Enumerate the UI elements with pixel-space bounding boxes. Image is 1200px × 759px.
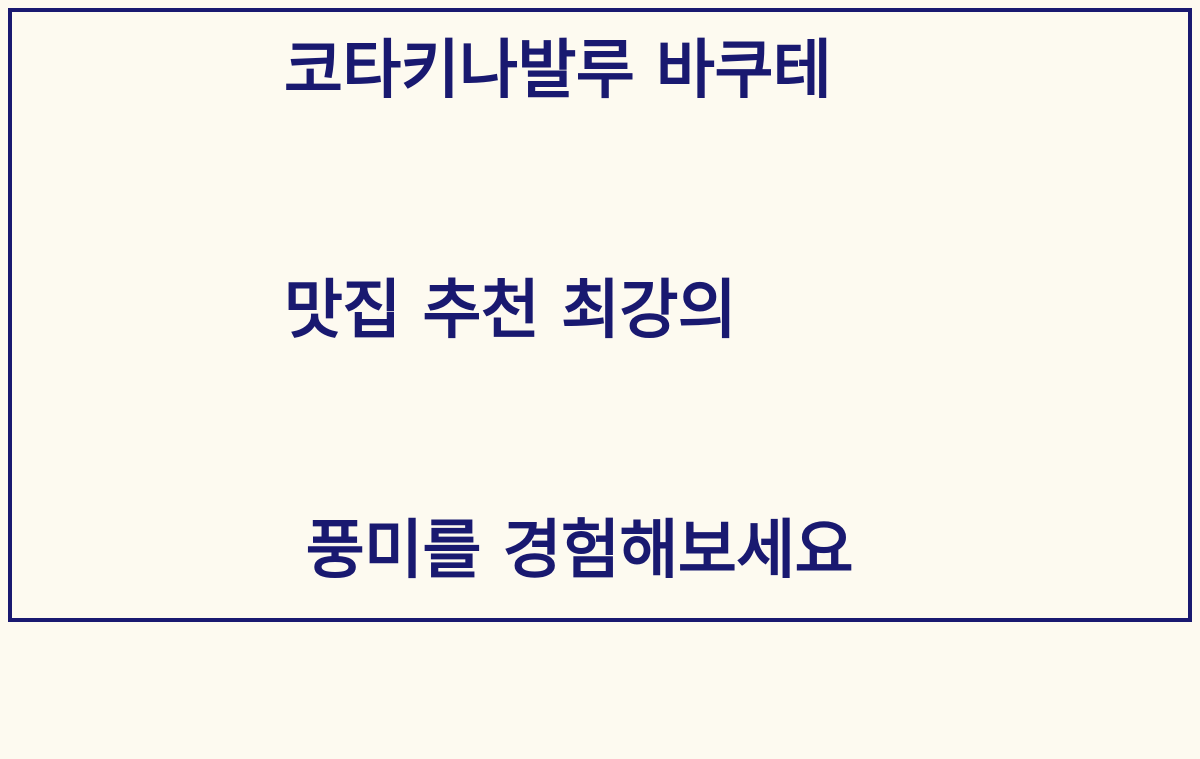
headline-line-2: 맛집 추천 최강의: [284, 271, 1148, 351]
headline-line-3: 풍미를 경험해보세요: [284, 511, 1148, 591]
decorative-border-frame: 코타키나발루 바쿠테 맛집 추천 최강의 풍미를 경험해보세요: [8, 8, 1192, 622]
headline-block: 코타키나발루 바쿠테 맛집 추천 최강의 풍미를 경험해보세요: [12, 0, 1188, 759]
thumbnail-card: 코타키나발루 바쿠테 맛집 추천 최강의 풍미를 경험해보세요: [0, 0, 1200, 630]
page-title: 코타키나발루 바쿠테 맛집 추천 최강의 풍미를 경험해보세요: [284, 0, 1148, 751]
headline-line-1: 코타키나발루 바쿠테: [284, 31, 1148, 111]
